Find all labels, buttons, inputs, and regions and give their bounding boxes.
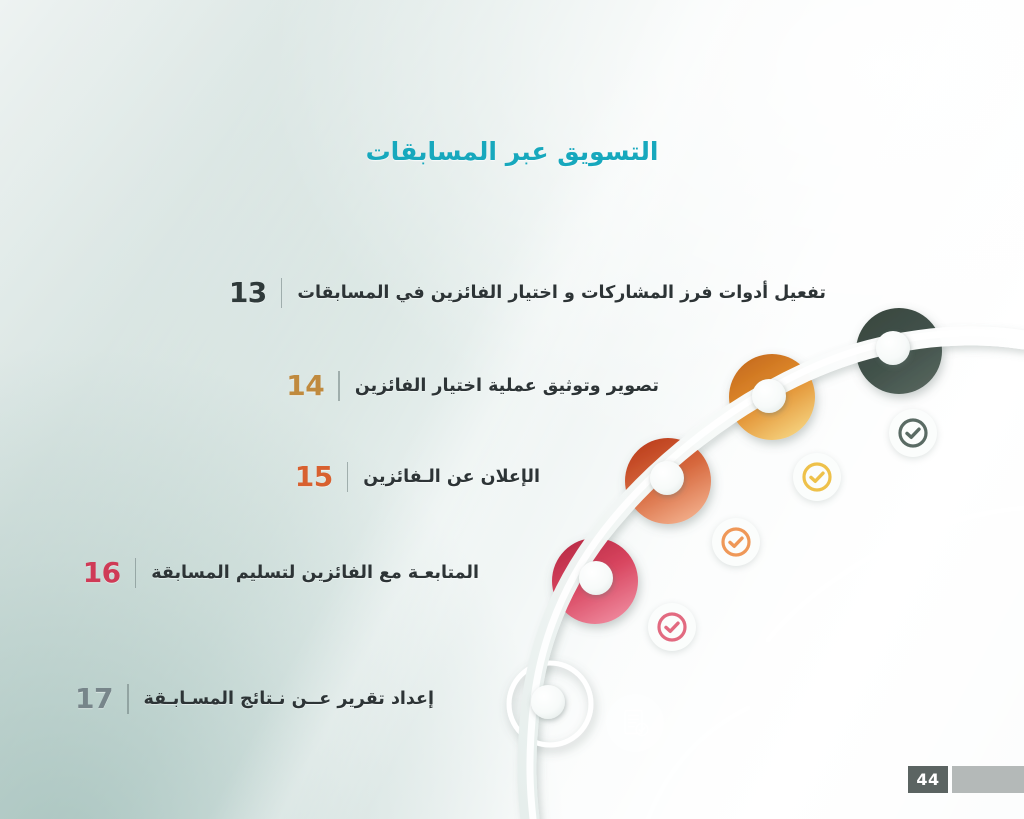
report-icon-badge xyxy=(606,694,664,752)
step-list: تفعيل أدوات فرز المشاركات و اختيار الفائ… xyxy=(0,0,1024,819)
report-document-icon xyxy=(618,706,652,740)
step-text-17: إعداد تقرير عــن نـتائج المسـابـقة xyxy=(144,689,434,709)
step-divider-15 xyxy=(347,462,349,492)
step-divider-14 xyxy=(338,371,340,401)
step-row-15[interactable]: الإعلان عن الـفائزين 15 xyxy=(295,460,540,493)
step-divider-13 xyxy=(281,278,283,308)
step-row-14[interactable]: تصوير وتوثيق عملية اختيار الفائزين 14 xyxy=(286,369,659,402)
step-number-15: 15 xyxy=(295,460,333,493)
page-number: 44 xyxy=(908,766,948,793)
step-text-14: تصوير وتوثيق عملية اختيار الفائزين xyxy=(355,376,659,396)
check-circle-icon xyxy=(800,460,834,494)
step-text-16: المتابعـة مع الفائزين لتسليم المسابقة xyxy=(151,563,479,583)
check-badge-rose xyxy=(648,603,696,651)
step-number-17: 17 xyxy=(75,682,113,715)
step-row-16[interactable]: المتابعـة مع الفائزين لتسليم المسابقة 16 xyxy=(83,556,479,589)
page-progress-bar xyxy=(952,766,1024,793)
check-circle-icon xyxy=(896,416,930,450)
footer-page-indicator: 44 xyxy=(908,766,1024,793)
slide-canvas: التسويق عبر المسابقات تفعيل أدوات فرز ال… xyxy=(0,0,1024,819)
step-number-13: 13 xyxy=(229,276,267,309)
step-divider-16 xyxy=(135,558,137,588)
step-divider-17 xyxy=(127,684,129,714)
step-text-13: تفعيل أدوات فرز المشاركات و اختيار الفائ… xyxy=(297,283,826,303)
check-badge-orange xyxy=(712,518,760,566)
check-badge-gold xyxy=(793,453,841,501)
check-badge-slate xyxy=(889,409,937,457)
check-circle-icon xyxy=(719,525,753,559)
step-row-13[interactable]: تفعيل أدوات فرز المشاركات و اختيار الفائ… xyxy=(229,276,826,309)
step-number-14: 14 xyxy=(286,369,324,402)
step-text-15: الإعلان عن الـفائزين xyxy=(363,467,540,487)
check-circle-icon xyxy=(655,610,689,644)
step-row-17[interactable]: إعداد تقرير عــن نـتائج المسـابـقة 17 xyxy=(75,682,434,715)
step-number-16: 16 xyxy=(83,556,121,589)
